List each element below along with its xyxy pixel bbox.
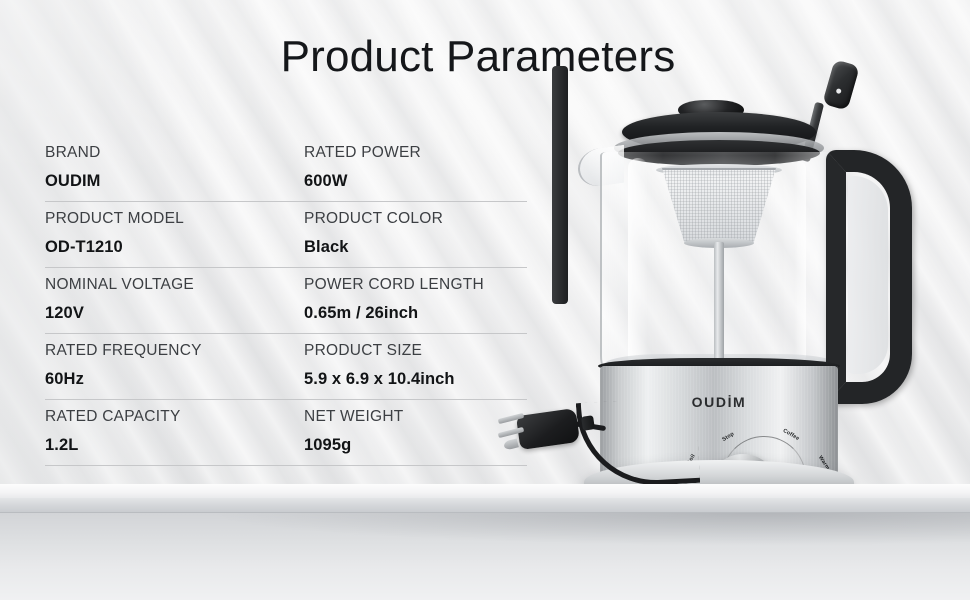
spec-value: 1095g: [304, 435, 527, 455]
spec-label: BRAND: [45, 143, 286, 163]
infuser-stem: [714, 242, 724, 372]
glass-highlight-right: [794, 162, 806, 362]
spec-cell-right: NET WEIGHT 1095g: [286, 407, 527, 465]
dial-label-coffee: Coffee: [782, 428, 801, 442]
dial-label-stop: Stop: [721, 431, 735, 443]
spec-value: Black: [304, 237, 527, 257]
spec-label: POWER CORD LENGTH: [304, 275, 527, 295]
power-plug: [516, 408, 580, 450]
spec-cell-left: NOMINAL VOLTAGE 120V: [45, 275, 286, 333]
product-image: OUDİM Tea /Boil Stop Coffee Warm: [556, 56, 970, 492]
spec-label: PRODUCT COLOR: [304, 209, 527, 229]
shelf-surface: [0, 484, 970, 498]
spec-cell-right: PRODUCT SIZE 5.9 x 6.9 x 10.4inch: [286, 341, 527, 399]
spec-value: 60Hz: [45, 369, 286, 389]
spec-value: OD-T1210: [45, 237, 286, 257]
table-row: RATED FREQUENCY 60Hz PRODUCT SIZE 5.9 x …: [45, 334, 527, 400]
spec-cell-right: POWER CORD LENGTH 0.65m / 26inch: [286, 275, 527, 333]
spec-cell-left: RATED FREQUENCY 60Hz: [45, 341, 286, 399]
spec-label: RATED POWER: [304, 143, 527, 163]
lid-lifter-handle: [822, 59, 860, 110]
spec-cell-right: PRODUCT COLOR Black: [286, 209, 527, 267]
spec-label: NOMINAL VOLTAGE: [45, 275, 286, 295]
power-cord-clip: [581, 415, 595, 431]
table-row: PRODUCT MODEL OD-T1210 PRODUCT COLOR Bla…: [45, 202, 527, 268]
spec-table: BRAND OUDIM RATED POWER 600W PRODUCT MOD…: [45, 136, 527, 466]
spec-value: 5.9 x 6.9 x 10.4inch: [304, 369, 527, 389]
spec-cell-left: RATED CAPACITY 1.2L: [45, 407, 286, 465]
product-parameters-banner: Product Parameters BRAND OUDIM RATED POW…: [0, 0, 970, 600]
spec-cell-right: RATED POWER 600W: [286, 143, 527, 201]
spec-value: 1.2L: [45, 435, 286, 455]
handle-post: [552, 66, 568, 304]
handle-grip-opening: [848, 176, 888, 374]
spec-value: OUDIM: [45, 171, 286, 191]
glass-highlight-left: [628, 158, 648, 366]
shelf-under-shadow: [0, 513, 970, 600]
spec-value: 120V: [45, 303, 286, 323]
table-row: RATED CAPACITY 1.2L NET WEIGHT 1095g: [45, 400, 527, 466]
spec-cell-left: PRODUCT MODEL OD-T1210: [45, 209, 286, 267]
shelf: [0, 484, 970, 600]
spec-value: 600W: [304, 171, 527, 191]
spec-label: NET WEIGHT: [304, 407, 527, 427]
spec-label: RATED CAPACITY: [45, 407, 286, 427]
shelf-front-edge: [0, 498, 970, 513]
spec-label: PRODUCT SIZE: [304, 341, 527, 361]
spec-label: PRODUCT MODEL: [45, 209, 286, 229]
spec-label: RATED FREQUENCY: [45, 341, 286, 361]
spec-cell-left: BRAND OUDIM: [45, 143, 286, 201]
table-row: NOMINAL VOLTAGE 120V POWER CORD LENGTH 0…: [45, 268, 527, 334]
table-row: BRAND OUDIM RATED POWER 600W: [45, 136, 527, 202]
spec-value: 0.65m / 26inch: [304, 303, 527, 323]
